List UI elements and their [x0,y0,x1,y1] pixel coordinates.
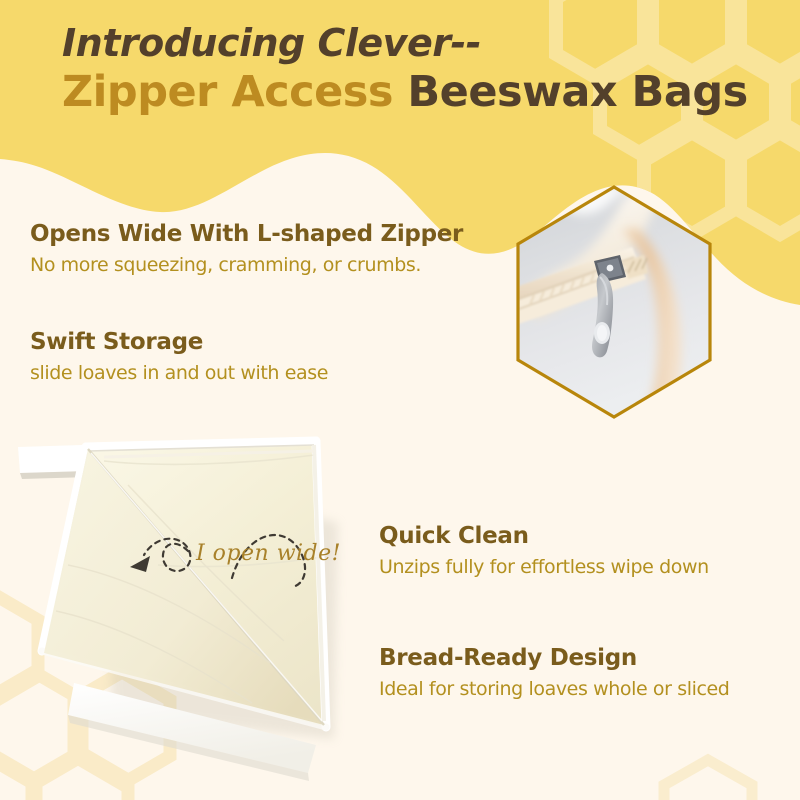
feature-heading: Swift Storage [30,330,328,355]
feature-item-quick-clean: Quick Clean Unzips fully for effortless … [379,524,709,579]
feature-heading: Quick Clean [379,524,709,549]
feature-subtext: No more squeezing, cramming, or crumbs. [30,254,463,277]
bag-script-annotation: I open wide! [196,541,341,566]
page-title-dark-part: Beeswax Bags [407,67,747,117]
feature-item-opens-wide: Opens Wide With L-shaped Zipper No more … [30,222,463,277]
feature-item-bread-ready: Bread-Ready Design Ideal for storing loa… [379,646,729,701]
beeswax-bag-photo [8,415,378,795]
header-title-block: Introducing Clever-- Zipper Access Beesw… [62,24,792,117]
feature-heading: Bread-Ready Design [379,646,729,671]
page-title-gold-part: Zipper Access [62,67,407,117]
zipper-closeup-photo [514,185,714,420]
feature-subtext: slide loaves in and out with ease [30,362,328,385]
feature-item-swift-storage: Swift Storage slide loaves in and out wi… [30,330,328,385]
page-title-line2: Zipper Access Beeswax Bags [62,68,792,117]
feature-subtext: Ideal for storing loaves whole or sliced [379,678,729,701]
feature-heading: Opens Wide With L-shaped Zipper [30,222,463,247]
page-title-line1: Introducing Clever-- [62,24,792,62]
feature-subtext: Unzips fully for effortless wipe down [379,556,709,579]
